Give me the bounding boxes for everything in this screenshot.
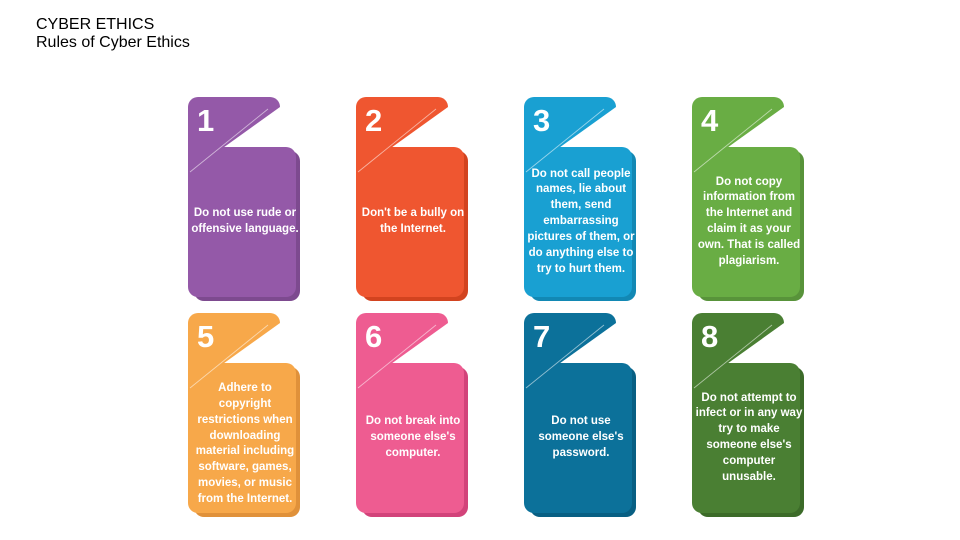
card-text: Do not use rude or offensive language. [191,206,299,238]
card-text: Do not copy information from the Interne… [695,175,803,270]
card-text: Don't be a bully on the Internet. [359,206,467,238]
card-number: 7 [533,321,550,352]
rules-card-grid: 1Do not use rude or offensive language.2… [0,0,960,540]
card-number: 1 [197,105,214,136]
card-text: Adhere to copyright restrictions when do… [191,381,299,508]
card-number: 5 [197,321,214,352]
card-number: 4 [701,105,718,136]
card-number: 8 [701,321,718,352]
card-text: Do not use someone else's password. [527,414,635,462]
card-number: 2 [365,105,382,136]
card-number: 6 [365,321,382,352]
card-text: Do not break into someone else's compute… [359,414,467,462]
card-number: 3 [533,105,550,136]
card-text: Do not attempt to infect or in any way t… [695,391,803,486]
card-text: Do not call people names, lie about them… [527,167,635,278]
